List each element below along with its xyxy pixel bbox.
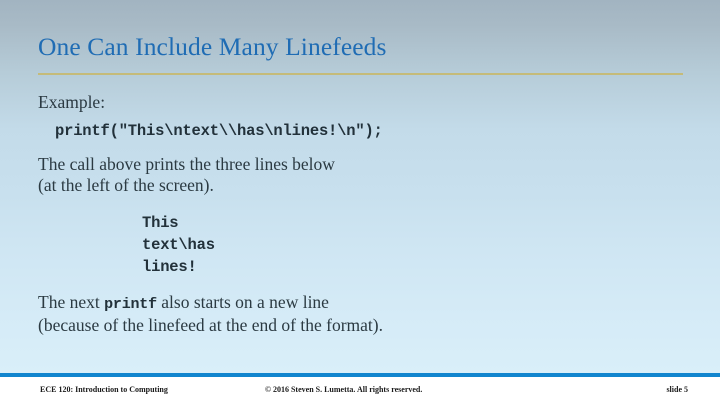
paragraph-explanation: The call above prints the three lines be… (38, 154, 688, 197)
slide-body: Example: printf("This\ntext\\has\nlines!… (38, 92, 688, 337)
paragraph-next-printf-prefix: The next (38, 292, 104, 312)
footer-slide-number: slide 5 (666, 385, 688, 394)
output-line: This (142, 212, 688, 234)
title-divider (38, 73, 683, 75)
footer-course: ECE 120: Introduction to Computing (40, 385, 168, 394)
code-example: printf("This\ntext\\has\nlines!\n"); (55, 121, 688, 142)
example-label: Example: (38, 92, 688, 114)
inline-code-printf: printf (104, 296, 157, 313)
slide: One Can Include Many Linefeeds Example: … (0, 0, 720, 405)
paragraph-next-printf: The next printf also starts on a new lin… (38, 292, 688, 337)
footer-copyright: © 2016 Steven S. Lumetta. All rights res… (265, 385, 422, 394)
program-output: This text\has lines! (142, 212, 688, 278)
page-title: One Can Include Many Linefeeds (38, 32, 387, 62)
output-line: lines! (142, 256, 688, 278)
footer: ECE 120: Introduction to Computing © 201… (0, 377, 720, 405)
output-line: text\has (142, 234, 688, 256)
